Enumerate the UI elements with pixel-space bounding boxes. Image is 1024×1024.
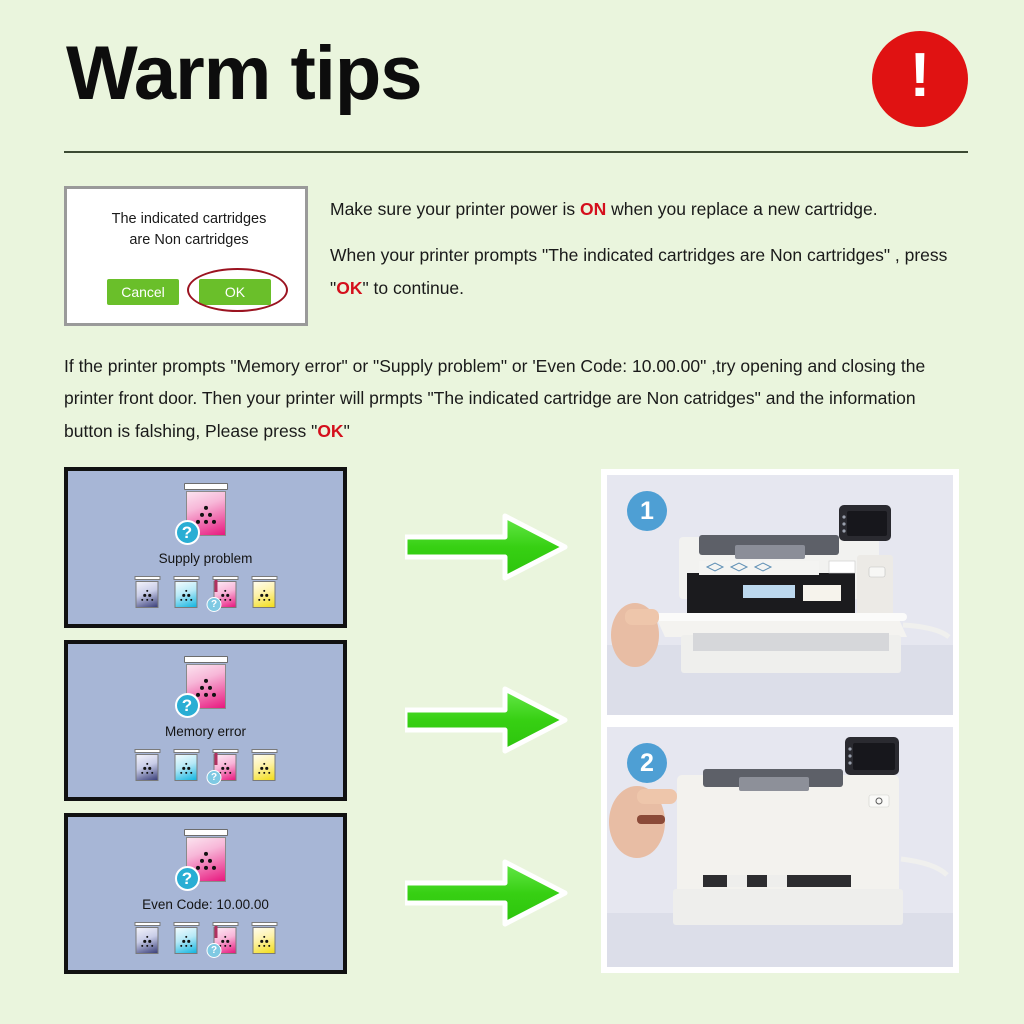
cartridge-icon-yellow (251, 576, 277, 608)
cartridge-cap (184, 483, 228, 490)
intro-paragraph-2: When your printer prompts "The indicated… (330, 239, 975, 304)
body-paragraph-part-b: " (344, 421, 350, 441)
question-mark-icon-small: ? (207, 597, 222, 612)
intro-p1-part-b: when you replace a new cartridge. (606, 199, 877, 219)
cartridge-body-magenta: ? (186, 837, 226, 882)
dialog-message-line1: The indicated cartridges (112, 211, 267, 227)
page-title: Warm tips (66, 36, 422, 112)
cartridge-icon-large: ? (184, 829, 228, 882)
cartridge-alert-bar (215, 926, 218, 938)
step-badge-2: 2 (627, 743, 667, 783)
intro-p2-part-b: " to continue. (362, 278, 464, 298)
ok-button[interactable]: OK (199, 279, 271, 305)
dialog-message-line2: are Non cartridges (129, 232, 248, 248)
cartridge-icon-black (134, 749, 160, 781)
cartridge-cap (184, 829, 228, 836)
dialog-message: The indicated cartridges are Non cartrid… (67, 209, 311, 251)
green-arrow-right-icon (405, 854, 570, 932)
cartridge-icon-cyan (173, 576, 199, 608)
cartridge-icon-cyan (173, 922, 199, 954)
cancel-button[interactable]: Cancel (107, 279, 179, 305)
intro-p2-ok: OK (336, 278, 362, 298)
photo-step-2: 2 (607, 727, 953, 967)
error-panel-even-code: ? Even Code: 10.00.00 (64, 813, 347, 974)
error-panel-label: Supply problem (68, 551, 343, 566)
intro-text-block: Make sure your printer power is ON when … (330, 193, 975, 304)
cartridge-alert-bar (215, 753, 218, 765)
question-mark-icon-small: ? (207, 770, 222, 785)
cartridge-icon-magenta: ? (212, 922, 238, 954)
error-panel-label: Even Code: 10.00.00 (68, 897, 343, 912)
question-mark-icon: ? (175, 866, 200, 891)
question-mark-icon-small: ? (207, 943, 222, 958)
printer-dialog-screenshot: The indicated cartridges are Non cartrid… (64, 186, 308, 326)
cartridge-status-row: ? (134, 576, 277, 608)
question-mark-icon: ? (175, 520, 200, 545)
intro-p1-on: ON (580, 199, 606, 219)
body-paragraph: If the printer prompts "Memory error" or… (64, 350, 964, 447)
error-panel-label: Memory error (68, 724, 343, 739)
body-paragraph-ok: OK (317, 421, 343, 441)
cartridge-status-row: ? (134, 922, 277, 954)
error-panel-supply-problem: ? Supply problem ? (64, 467, 347, 628)
dialog-button-row: Cancel OK (67, 279, 311, 305)
cartridge-body-magenta: ? (186, 664, 226, 709)
cartridge-icon-yellow (251, 749, 277, 781)
header-divider (64, 151, 968, 153)
question-mark-icon: ? (175, 693, 200, 718)
cartridge-icon-black (134, 922, 160, 954)
cartridge-icon-black (134, 576, 160, 608)
cartridge-dots (196, 851, 216, 869)
header: Warm tips ! (0, 0, 1024, 155)
cartridge-dots (196, 678, 216, 696)
body-paragraph-part-a: If the printer prompts "Memory error" or… (64, 356, 925, 441)
cartridge-body-magenta: ? (186, 491, 226, 536)
photo-frame: 1 (601, 469, 959, 973)
cartridge-icon-large: ? (184, 483, 228, 536)
cartridge-dots (196, 505, 216, 523)
step-badge-1: 1 (627, 491, 667, 531)
cartridge-icon-magenta: ? (212, 749, 238, 781)
cartridge-icon-large: ? (184, 656, 228, 709)
intro-p1-part-a: Make sure your printer power is (330, 199, 580, 219)
green-arrow-right-icon (405, 681, 570, 759)
cartridge-icon-cyan (173, 749, 199, 781)
cartridge-icon-yellow (251, 922, 277, 954)
exclamation-icon: ! (872, 31, 968, 127)
cartridge-alert-bar (215, 580, 218, 592)
cartridge-cap (184, 656, 228, 663)
intro-paragraph-1: Make sure your printer power is ON when … (330, 193, 975, 225)
error-panel-memory-error: ? Memory error ? (64, 640, 347, 801)
cartridge-status-row: ? (134, 749, 277, 781)
exclamation-glyph: ! (910, 45, 931, 107)
green-arrow-right-icon (405, 508, 570, 586)
photo-step-1: 1 (607, 475, 953, 715)
cartridge-icon-magenta: ? (212, 576, 238, 608)
